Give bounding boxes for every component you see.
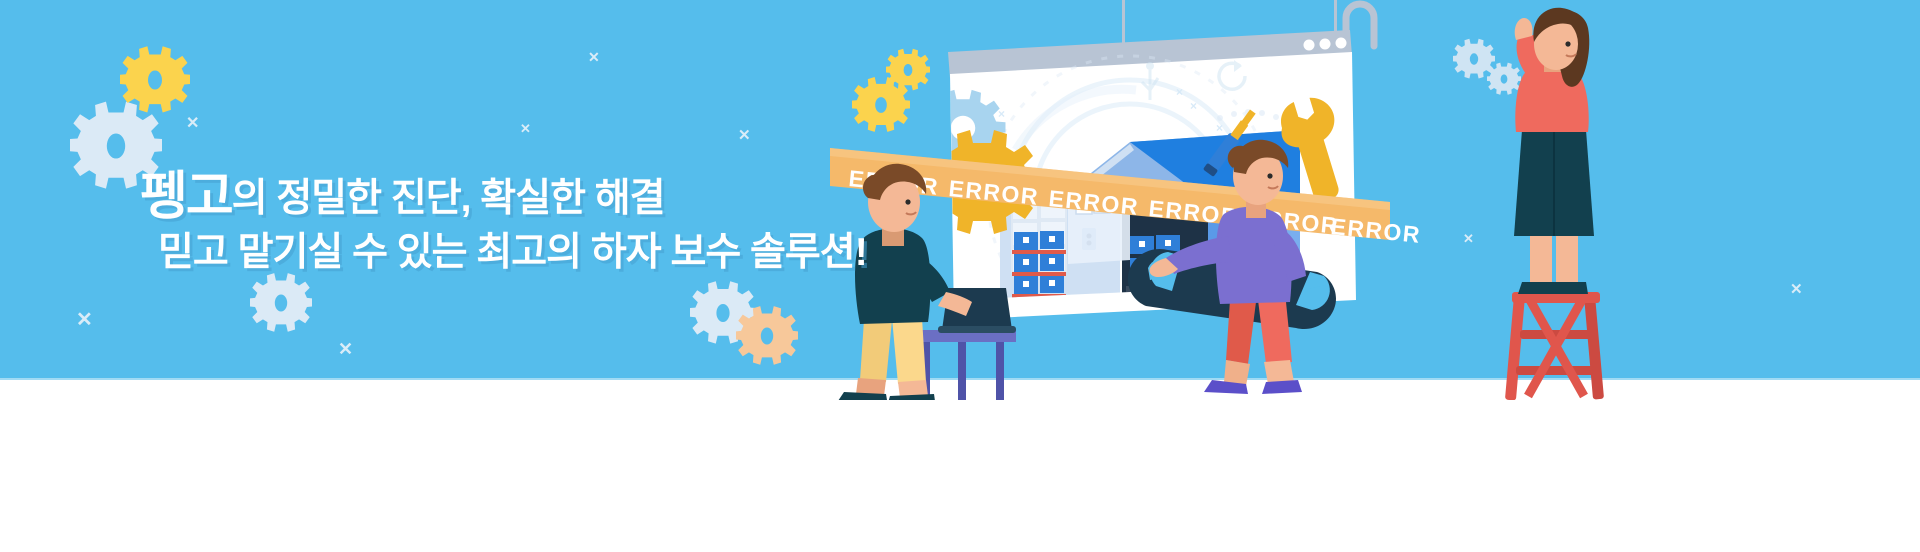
headline-line-1: 펭고의 정밀한 진단, 확실한 해결 [140,170,867,226]
gear-peach-lower [736,305,798,367]
x-mark: ✕ [338,340,353,358]
brand-name: 펭고 [140,168,232,226]
x-mark: ✕ [520,122,531,135]
x-mark: ✕ [588,50,600,64]
gear-pale-lower [690,280,756,346]
headline-line-2: 믿고 맡기실 수 있는 최고의 하자 보수 솔루션! [140,226,867,280]
x-mark: ✕ [76,310,93,330]
step-ladder [1505,292,1604,400]
headline: 펭고의 정밀한 진단, 확실한 해결 믿고 맡기실 수 있는 최고의 하자 보수… [140,170,867,280]
repair-service-illustration: ×× ×× ×× × [830,0,1920,400]
laptop-desk [916,330,1016,400]
lower-white-strip [0,380,1920,552]
person-woman-on-ladder [1514,8,1594,294]
gear-pale-mid [250,272,312,334]
browser-dot-1 [1304,40,1315,51]
svg-text:×: × [1216,121,1223,135]
headline-line-1-rest: 의 정밀한 진단, 확실한 해결 [232,177,665,220]
svg-text:×: × [1190,99,1197,113]
browser-dot-3 [1336,38,1347,49]
browser-dot-2 [1320,39,1331,50]
gear-yellow-left [120,45,190,115]
x-mark: ✕ [738,128,751,143]
promo-banner: ✕✕✕✕✕✕✕✕✕ 펭고의 정밀한 진단, 확실한 해결 믿고 맡기실 수 있는… [0,0,1920,552]
svg-text:×: × [1176,85,1183,99]
x-mark: ✕ [186,116,199,132]
